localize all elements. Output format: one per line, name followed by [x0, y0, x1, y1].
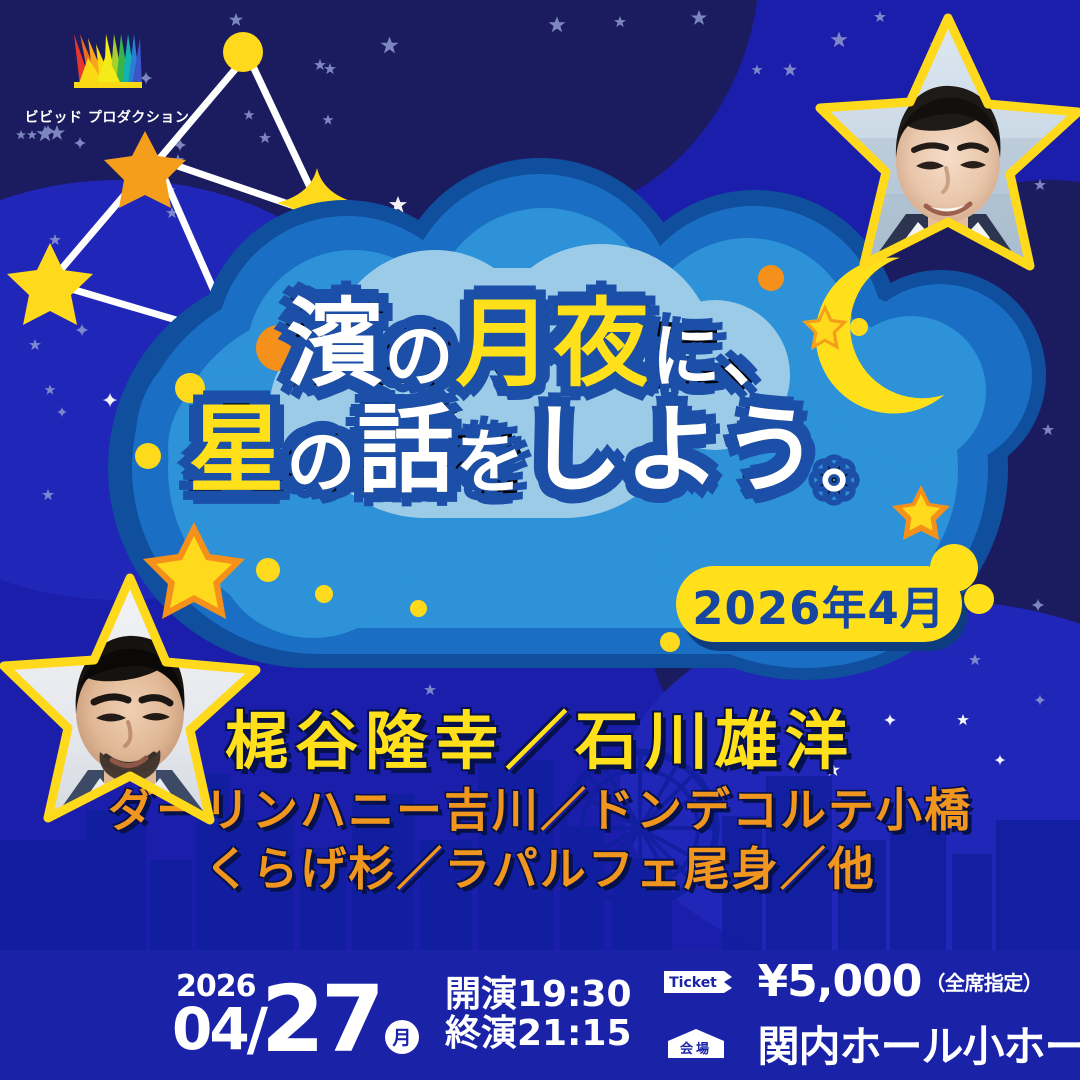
date-badge: 2026年4月	[676, 566, 962, 642]
title-char: に	[651, 323, 722, 392]
event-info-bar: 2026 04/ 27 月 開演19:30 終演21:15 Ticket	[0, 950, 1080, 1080]
title-line-2: 星の話をしよう。	[0, 402, 1080, 498]
venue-row: 会場 関内ホール小ホール	[662, 1013, 1080, 1074]
venue-name: 関内ホール小ホール	[758, 1013, 1080, 1074]
event-date-block: 2026 04/ 27 月	[172, 972, 419, 1057]
event-day-of-week: 月	[385, 1020, 419, 1054]
title-char: う	[723, 402, 821, 498]
svg-text:Ticket: Ticket	[669, 975, 717, 991]
cloud-dot-yellow	[315, 585, 333, 603]
event-times: 開演19:30 終演21:15	[445, 976, 632, 1054]
event-day: 27	[261, 982, 381, 1057]
title-char: の	[384, 323, 455, 392]
venue-home-icon: 会場	[662, 1027, 746, 1061]
svg-text:会場: 会場	[680, 1041, 712, 1057]
production-logo-name: ビビッド プロダクション	[22, 107, 192, 127]
title-char: 、	[723, 323, 794, 392]
title-char: よ	[625, 402, 723, 498]
poster-title: 濱の月夜に、 星の話をしよう。	[0, 296, 1080, 498]
cloud-dot-orange	[758, 265, 784, 291]
title-char: 。	[821, 429, 892, 498]
event-start-time: 開演19:30	[445, 976, 632, 1015]
performer-photo-top-right	[790, 8, 1080, 308]
date-badge-pill: 2026年4月	[676, 566, 962, 642]
title-char: 星	[188, 402, 286, 498]
production-logo[interactable]: ビビッド プロダクション	[22, 28, 192, 127]
event-month: 04/	[172, 1002, 265, 1057]
performer-photo-bottom-left	[0, 566, 264, 856]
event-details: Ticket ¥5,000 （全席指定） 会場 関内ホール小ホール	[662, 956, 1080, 1074]
title-char: 月	[455, 296, 553, 392]
ticket-price-note: （全席指定）	[925, 967, 1042, 996]
cloud-dot-yellow	[410, 600, 427, 617]
vivid-crown-icon	[22, 28, 192, 100]
title-char: の	[286, 429, 357, 498]
ticket-price: ¥5,000	[758, 956, 922, 1007]
event-end-time: 終演21:15	[445, 1015, 632, 1054]
title-char: 夜	[553, 296, 651, 392]
title-char: を	[455, 429, 526, 498]
date-badge-label: 2026年4月	[692, 572, 946, 637]
title-line-1: 濱の月夜に、	[0, 296, 1080, 392]
date-badge-knob	[964, 584, 994, 614]
title-char: 話	[357, 402, 455, 498]
event-poster: 濱の月夜に、 星の話をしよう。 2026年4月	[0, 0, 1080, 1080]
title-char: し	[527, 402, 625, 498]
ticket-row: Ticket ¥5,000 （全席指定）	[662, 956, 1080, 1007]
title-char: 濱	[286, 296, 384, 392]
ticket-icon: Ticket	[662, 967, 746, 997]
